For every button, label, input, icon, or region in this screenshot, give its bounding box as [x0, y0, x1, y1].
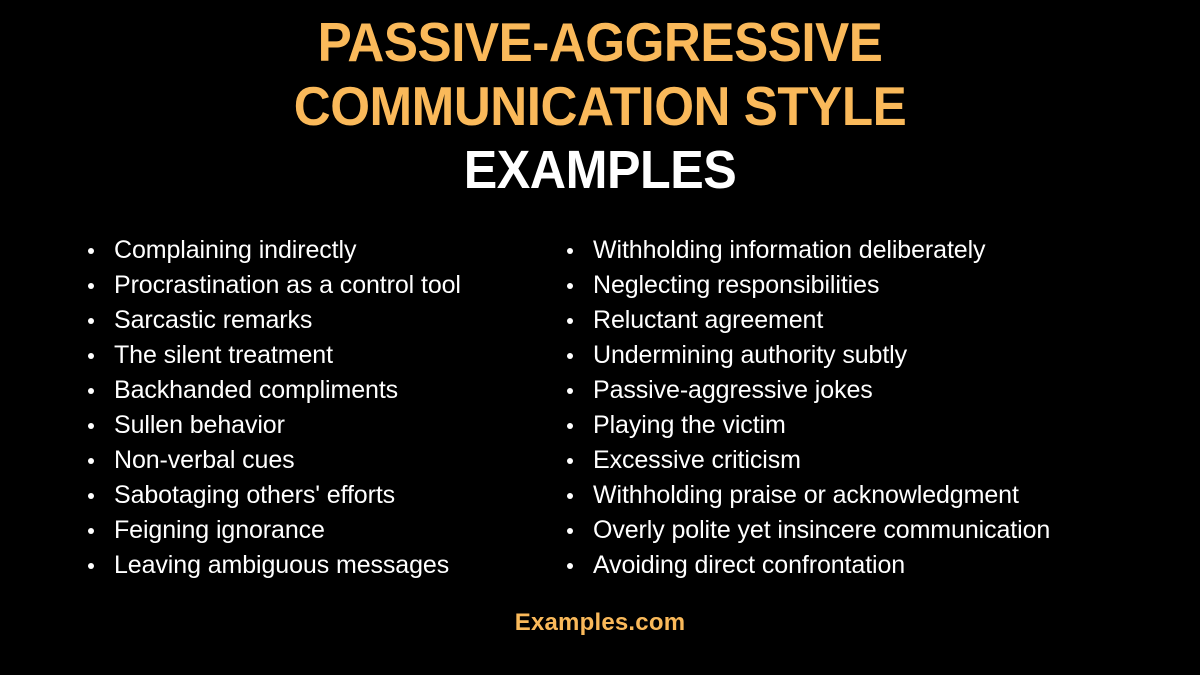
list-item: Overly polite yet insincere communicatio…	[563, 513, 1200, 548]
list-item: The silent treatment	[84, 338, 545, 373]
list-item: Reluctant agreement	[563, 303, 1200, 338]
list-item-label: Passive-aggressive jokes	[593, 373, 873, 408]
list-item-label: The silent treatment	[114, 338, 333, 373]
left-column: Complaining indirectly Procrastination a…	[0, 233, 545, 583]
bullet-dot-icon	[567, 423, 573, 429]
bullet-dot-icon	[88, 248, 94, 254]
list-item: Excessive criticism	[563, 443, 1200, 478]
list-item: Withholding information deliberately	[563, 233, 1200, 268]
bullet-dot-icon	[88, 563, 94, 569]
bullet-dot-icon	[88, 528, 94, 534]
list-item-label: Excessive criticism	[593, 443, 801, 478]
list-item-label: Overly polite yet insincere communicatio…	[593, 513, 1050, 548]
list-item: Playing the victim	[563, 408, 1200, 443]
bullet-dot-icon	[88, 283, 94, 289]
list-item-label: Sarcastic remarks	[114, 303, 312, 338]
bullet-dot-icon	[88, 493, 94, 499]
bullet-dot-icon	[567, 458, 573, 464]
list-item-label: Leaving ambiguous messages	[114, 548, 449, 583]
bullet-dot-icon	[88, 423, 94, 429]
list-item: Complaining indirectly	[84, 233, 545, 268]
list-item: Leaving ambiguous messages	[84, 548, 545, 583]
site-brand: Examples.com	[0, 608, 1200, 638]
bullet-dot-icon	[567, 283, 573, 289]
bullet-dot-icon	[567, 388, 573, 394]
title-line-1: PASSIVE-AGGRESSIVE	[42, 10, 1158, 74]
bullet-dot-icon	[567, 248, 573, 254]
list-item: Withholding praise or acknowledgment	[563, 478, 1200, 513]
bullet-dot-icon	[88, 353, 94, 359]
list-item-label: Undermining authority subtly	[593, 338, 907, 373]
list-item-label: Sabotaging others' efforts	[114, 478, 395, 513]
bullet-dot-icon	[88, 318, 94, 324]
bullet-dot-icon	[567, 318, 573, 324]
infographic-canvas: PASSIVE-AGGRESSIVE COMMUNICATION STYLE E…	[0, 0, 1200, 675]
title-line-2: COMMUNICATION STYLE	[42, 74, 1158, 138]
left-example-list: Complaining indirectly Procrastination a…	[84, 233, 545, 583]
list-item: Non-verbal cues	[84, 443, 545, 478]
list-item-label: Non-verbal cues	[114, 443, 295, 478]
list-item: Passive-aggressive jokes	[563, 373, 1200, 408]
title-line-3: EXAMPLES	[42, 138, 1158, 202]
list-item: Avoiding direct confrontation	[563, 548, 1200, 583]
bullet-dot-icon	[567, 563, 573, 569]
bullet-dot-icon	[567, 493, 573, 499]
list-item: Sabotaging others' efforts	[84, 478, 545, 513]
title-block: PASSIVE-AGGRESSIVE COMMUNICATION STYLE E…	[0, 10, 1200, 202]
list-item: Feigning ignorance	[84, 513, 545, 548]
list-item-label: Procrastination as a control tool	[114, 268, 461, 303]
list-item: Procrastination as a control tool	[84, 268, 545, 303]
bullet-dot-icon	[88, 458, 94, 464]
examples-columns: Complaining indirectly Procrastination a…	[0, 233, 1200, 583]
right-example-list: Withholding information deliberately Neg…	[563, 233, 1200, 583]
list-item-label: Sullen behavior	[114, 408, 285, 443]
list-item-label: Reluctant agreement	[593, 303, 823, 338]
list-item-label: Neglecting responsibilities	[593, 268, 879, 303]
list-item-label: Complaining indirectly	[114, 233, 356, 268]
list-item: Sarcastic remarks	[84, 303, 545, 338]
list-item: Backhanded compliments	[84, 373, 545, 408]
bullet-dot-icon	[567, 353, 573, 359]
list-item-label: Playing the victim	[593, 408, 786, 443]
list-item-label: Withholding information deliberately	[593, 233, 985, 268]
bullet-dot-icon	[88, 388, 94, 394]
list-item-label: Avoiding direct confrontation	[593, 548, 905, 583]
list-item-label: Feigning ignorance	[114, 513, 325, 548]
right-column: Withholding information deliberately Neg…	[545, 233, 1200, 583]
list-item: Neglecting responsibilities	[563, 268, 1200, 303]
list-item-label: Backhanded compliments	[114, 373, 398, 408]
list-item-label: Withholding praise or acknowledgment	[593, 478, 1019, 513]
list-item: Sullen behavior	[84, 408, 545, 443]
list-item: Undermining authority subtly	[563, 338, 1200, 373]
bullet-dot-icon	[567, 528, 573, 534]
